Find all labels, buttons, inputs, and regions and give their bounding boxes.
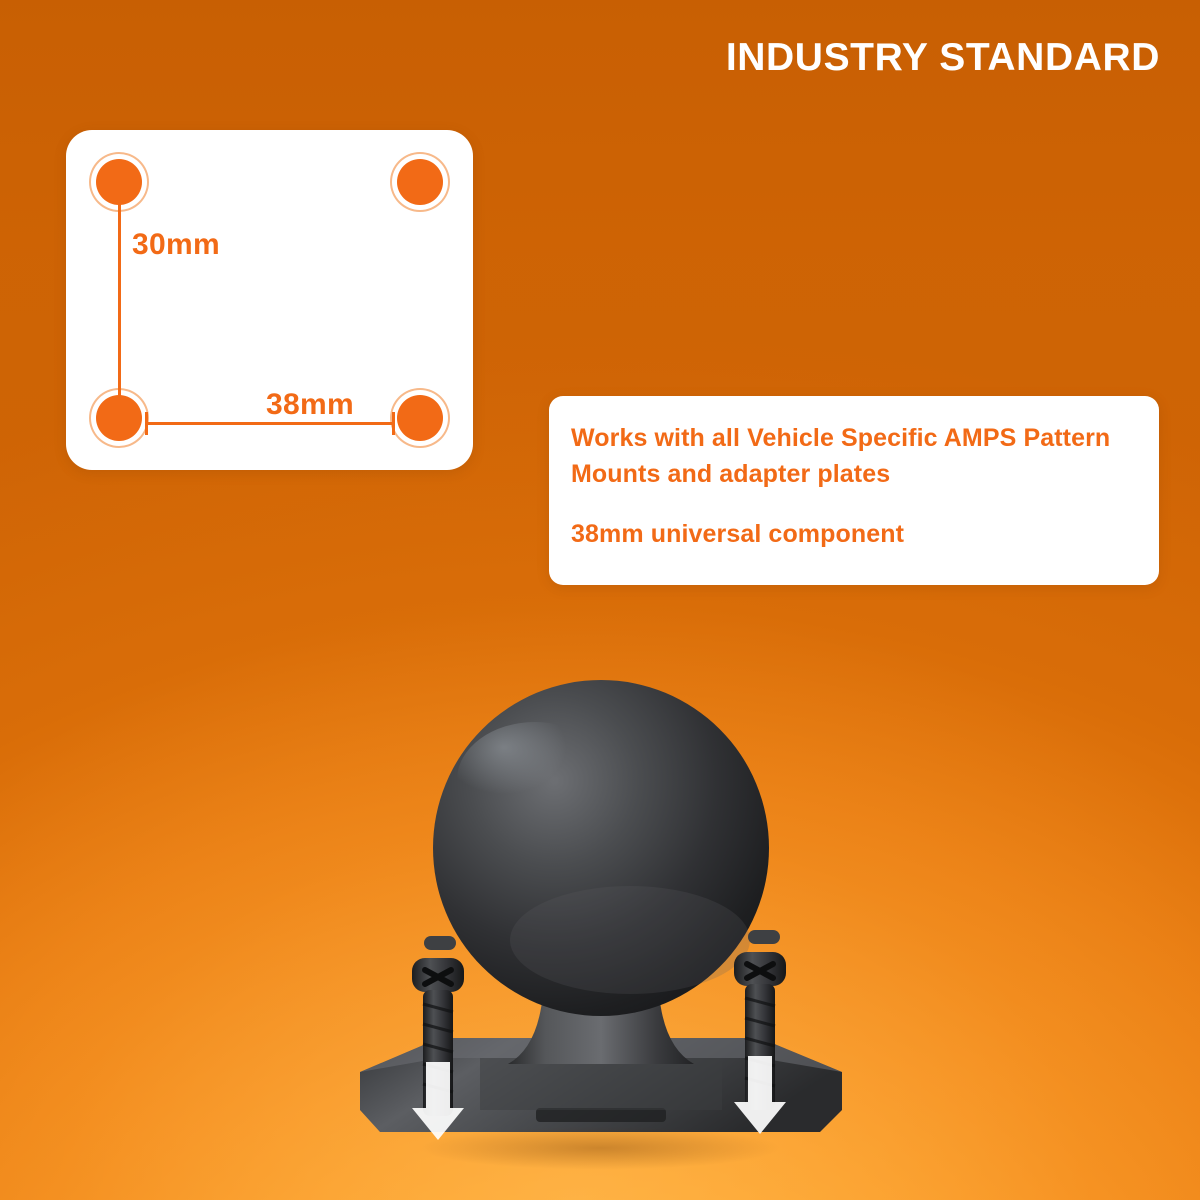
product-shadow [350,1118,850,1178]
vertical-dimension-label: 30mm [132,228,220,262]
rubber-ball [433,680,769,1016]
feature-callout-card: Works with all Vehicle Specific AMPS Pat… [549,396,1159,585]
vertical-dimension-line [118,182,121,417]
mount-hole-bottom-right [397,395,443,441]
horizontal-dimension-line [145,422,395,425]
feature-text-compatibility: Works with all Vehicle Specific AMPS Pat… [571,420,1137,492]
product-photo [330,640,870,1180]
ball-mount-illustration [330,640,870,1180]
feature-text-size: 38mm universal component [571,516,1137,552]
amps-pattern-diagram: 30mm 38mm [66,130,473,470]
page-title: INDUSTRY STANDARD [726,36,1160,80]
mount-hole-top-right [397,159,443,205]
product-promo-image: INDUSTRY STANDARD 30mm 38mm Works with a… [0,0,1200,1200]
horizontal-dimension-label: 38mm [266,388,354,422]
